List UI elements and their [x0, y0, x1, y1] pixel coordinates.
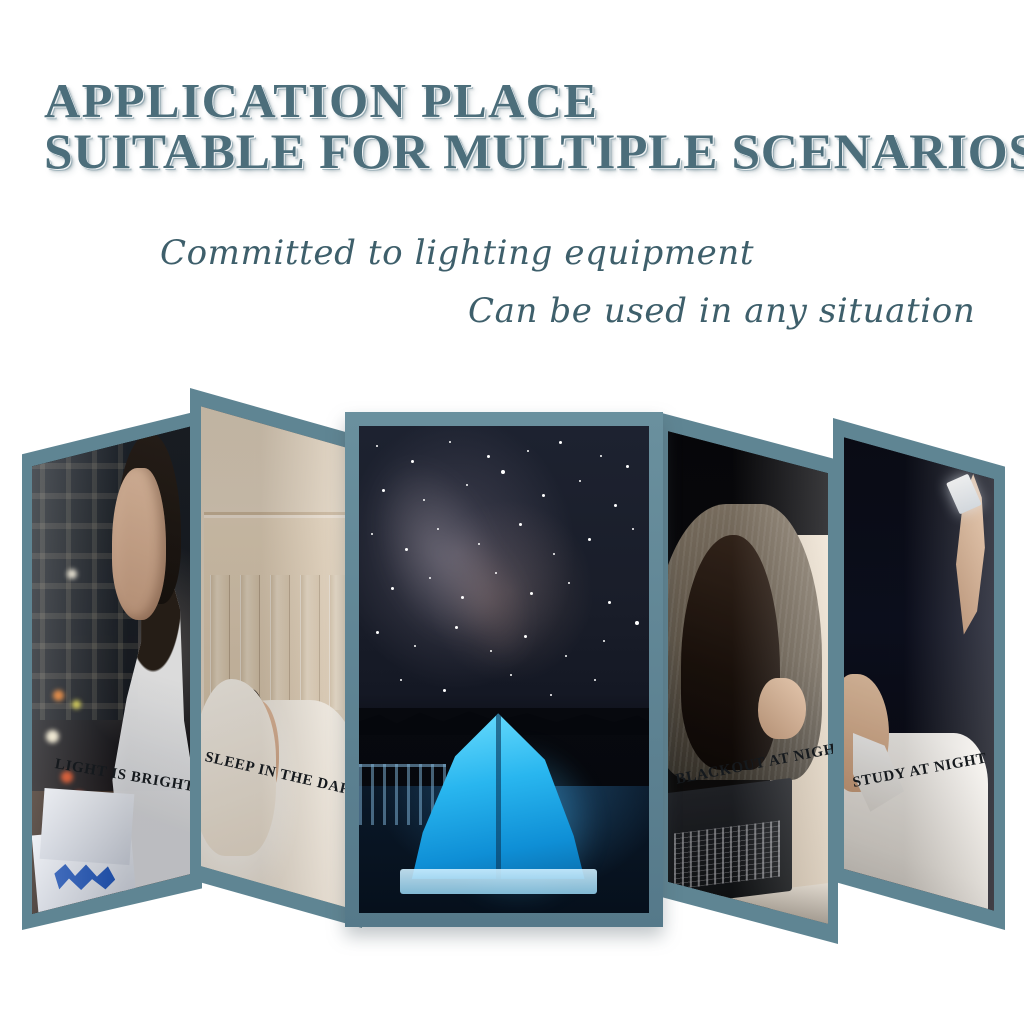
- star: [550, 694, 552, 696]
- star: [635, 621, 639, 625]
- star: [588, 538, 591, 541]
- scene-sleeping-bed: [201, 398, 351, 918]
- star: [376, 445, 378, 447]
- marketing-banner: APPLICATION PLACE SUITABLE FOR MULTIPLE …: [0, 0, 1024, 1024]
- scenario-panel-outdoor-camping[interactable]: [345, 412, 663, 927]
- headboard-slat: [300, 575, 320, 710]
- star: [530, 592, 533, 595]
- star: [376, 631, 379, 634]
- panel-photo: [668, 422, 828, 934]
- scenario-panel-sleep-in-the-dark[interactable]: [190, 388, 362, 928]
- page-title: APPLICATION PLACE SUITABLE FOR MULTIPLE …: [44, 76, 1024, 176]
- scene-office-night: [32, 418, 192, 922]
- star: [608, 601, 611, 604]
- star: [553, 553, 555, 555]
- scenario-panel-blackout-at-night[interactable]: [658, 412, 838, 944]
- star: [579, 480, 581, 482]
- tent-base: [400, 869, 597, 893]
- star: [600, 455, 602, 457]
- star: [371, 533, 373, 535]
- panel-photo: [201, 398, 351, 918]
- panel-photo: [359, 426, 649, 913]
- star: [429, 577, 431, 579]
- panel-photo: [32, 418, 192, 922]
- bokeh-light: [53, 690, 64, 701]
- headline-line-1: APPLICATION PLACE: [44, 76, 1024, 126]
- scene-study-at-night: [844, 428, 994, 920]
- star: [449, 441, 451, 443]
- star: [568, 582, 570, 584]
- star: [400, 679, 402, 681]
- star: [542, 494, 545, 497]
- star: [632, 528, 634, 530]
- person-hand: [758, 678, 806, 739]
- star: [594, 679, 596, 681]
- scenario-panel-light-is-bright[interactable]: [22, 410, 202, 930]
- headboard-slat: [270, 575, 290, 710]
- star: [487, 455, 490, 458]
- star: [455, 626, 458, 629]
- milky-way-band: [359, 426, 595, 732]
- scene-blackout-desk: [668, 422, 828, 934]
- scene-camping-night-sky: [359, 426, 649, 913]
- star: [559, 441, 562, 444]
- star: [391, 587, 394, 590]
- scenario-panel-study-at-night[interactable]: [833, 418, 1005, 930]
- star: [478, 543, 480, 545]
- subtitle-line-2: Can be used in any situation: [0, 286, 1024, 336]
- paper-sheet: [39, 788, 133, 865]
- subtitle-line-1: Committed to lighting equipment: [0, 228, 1024, 278]
- bokeh-light: [46, 730, 59, 743]
- star: [490, 650, 492, 652]
- person-face: [112, 468, 166, 619]
- star: [614, 504, 617, 507]
- star: [603, 640, 605, 642]
- star: [626, 465, 629, 468]
- star: [423, 499, 425, 501]
- star: [527, 450, 529, 452]
- star: [501, 470, 505, 474]
- star: [565, 655, 567, 657]
- headline-line-2: SUITABLE FOR MULTIPLE SCENARIOS: [44, 126, 1024, 176]
- scenario-panel-fan: LIGHT IS BRIGHT SLEEP: [0, 360, 1024, 940]
- subtitle: Committed to lighting equipment Can be u…: [0, 228, 1024, 336]
- panel-photo: [844, 428, 994, 920]
